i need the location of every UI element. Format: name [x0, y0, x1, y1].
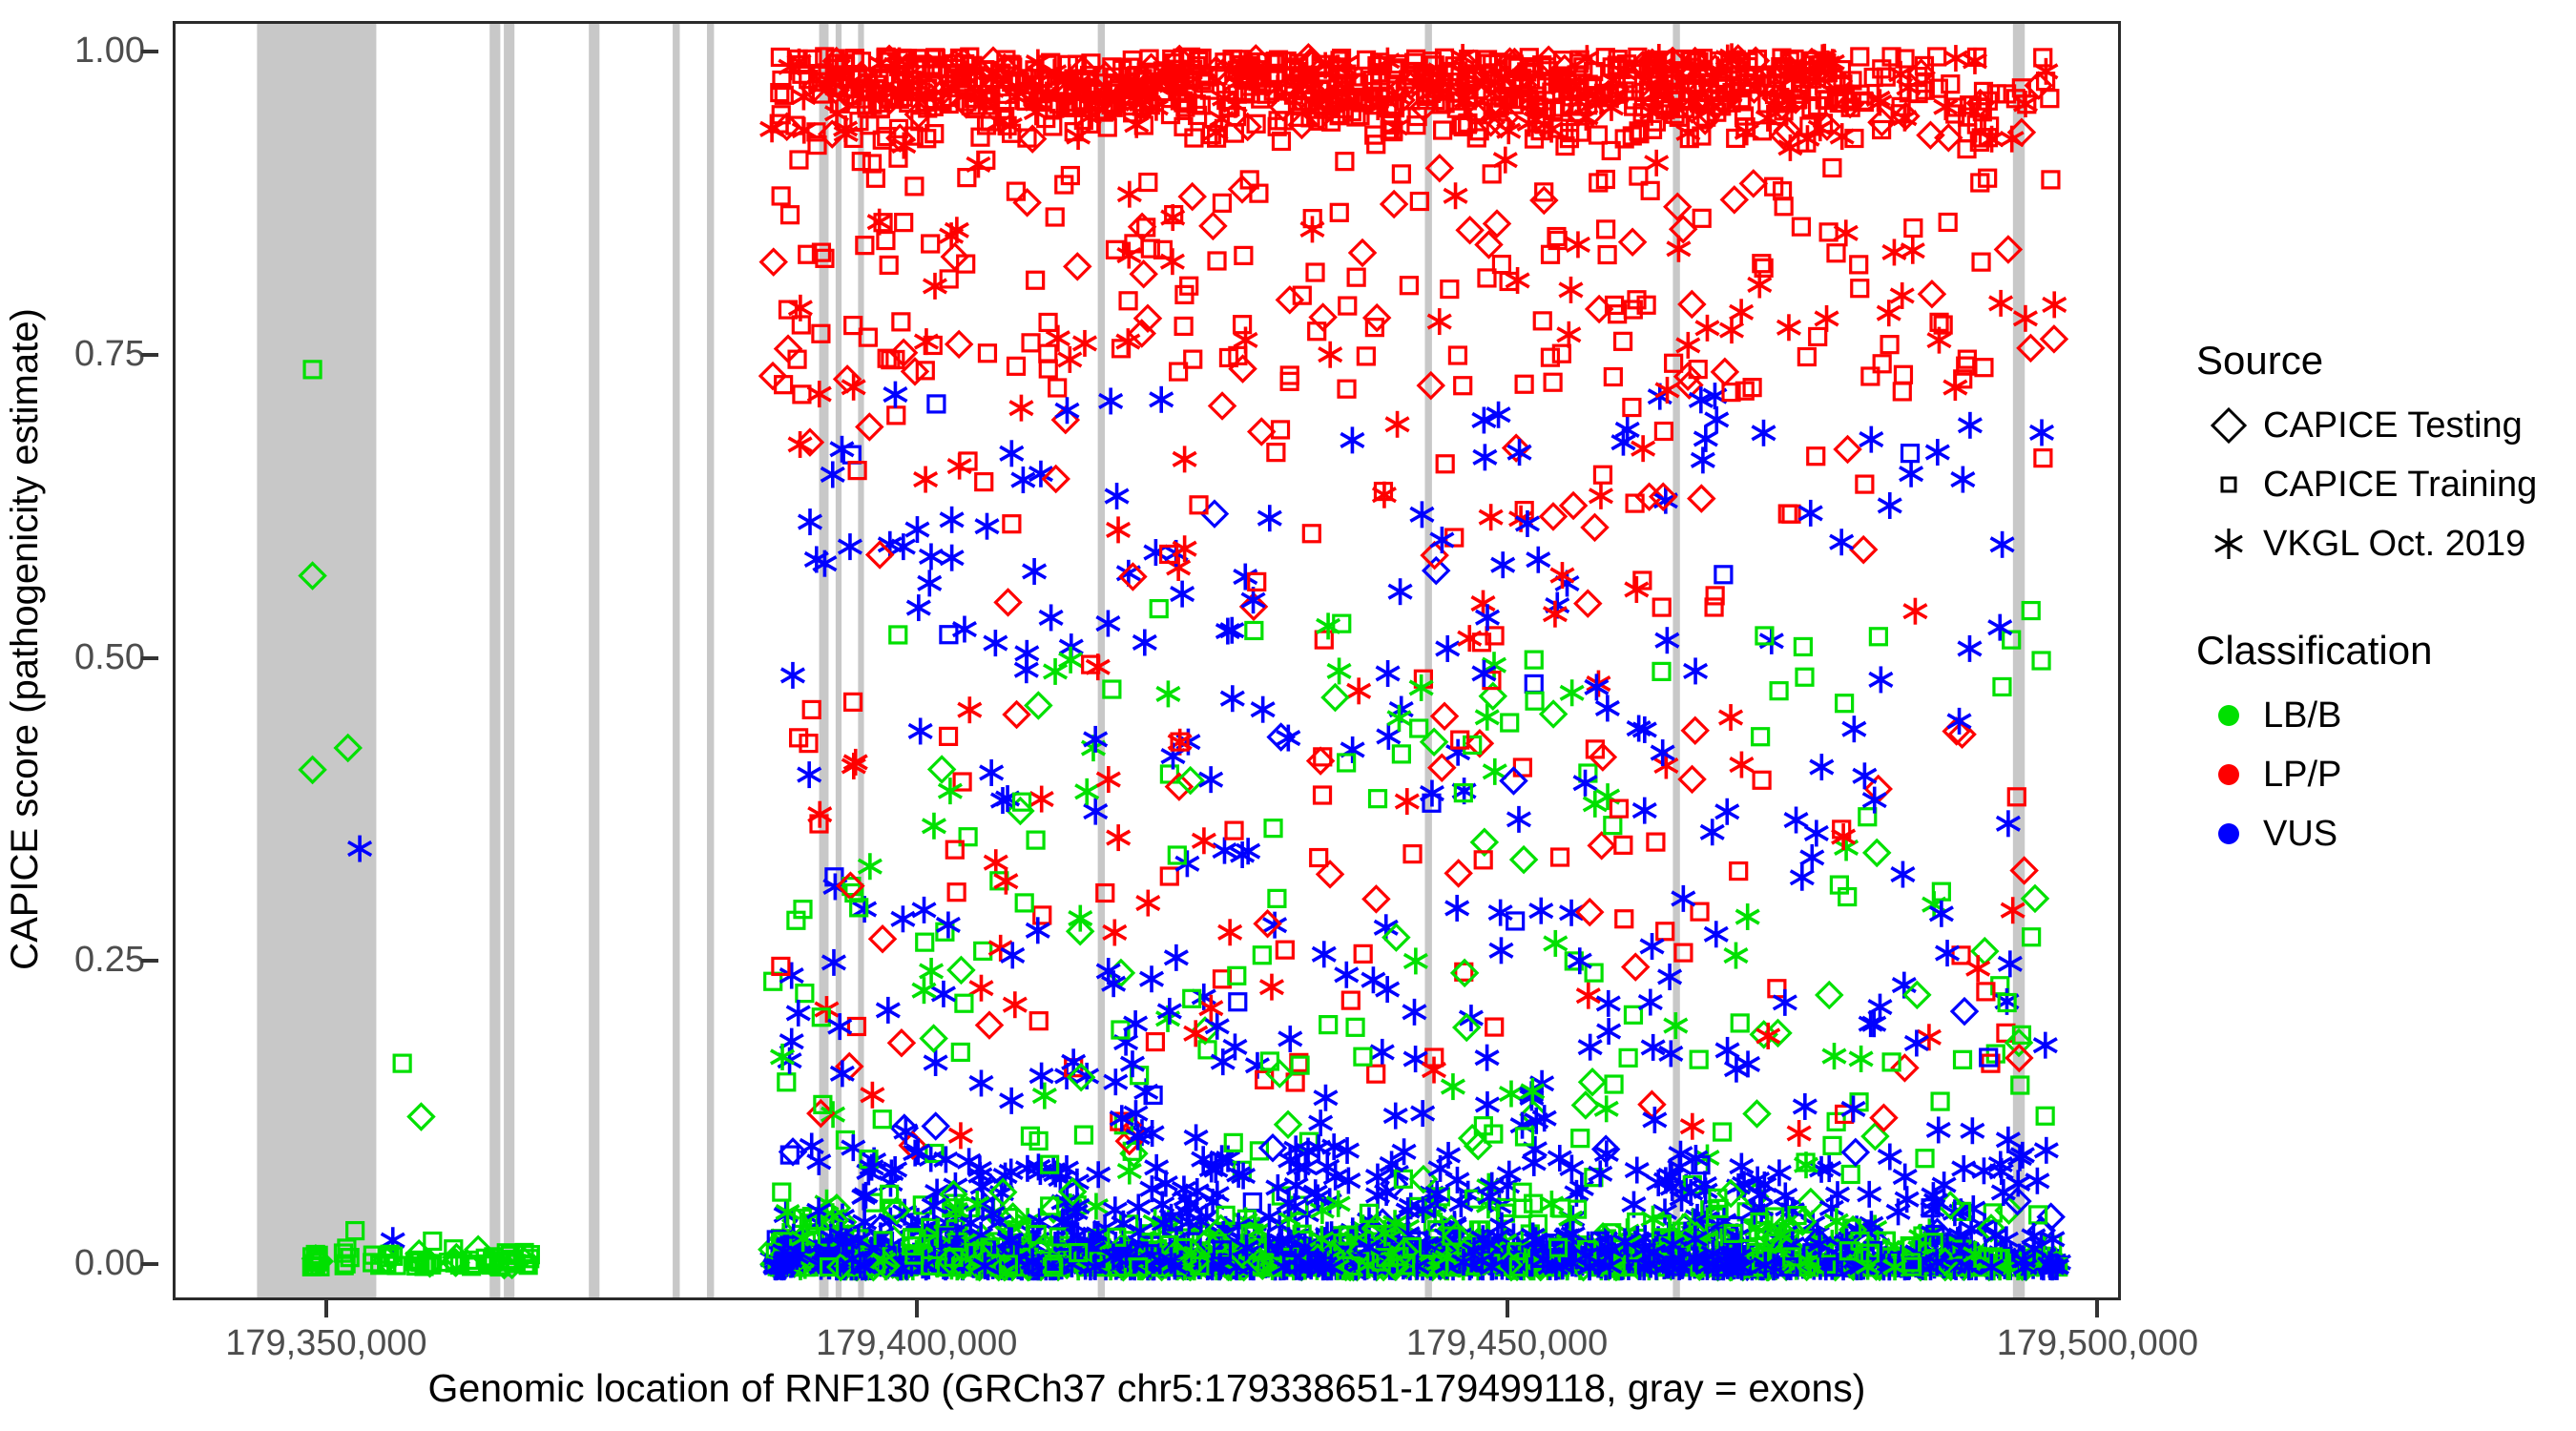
data-point [1311, 850, 1327, 866]
data-point [1605, 368, 1621, 384]
data-point [1246, 622, 1262, 638]
data-point [1895, 366, 1911, 383]
data-point [831, 1060, 854, 1087]
figure-root: CAPICE score (pathogenicity estimate) 0.… [0, 0, 2576, 1431]
data-point [1994, 678, 2010, 695]
data-point [1589, 483, 1612, 509]
data-point [1028, 832, 1044, 848]
data-point [1206, 1013, 1229, 1040]
data-point [1023, 558, 1046, 585]
asterisk-icon [2194, 522, 2263, 566]
data-point [1920, 281, 1944, 306]
data-point [1589, 127, 1606, 143]
data-point [2023, 603, 2039, 619]
data-point [922, 1026, 946, 1050]
data-point [1808, 448, 1824, 465]
data-point [425, 1234, 441, 1250]
data-point [800, 736, 817, 752]
data-point [1347, 677, 1370, 704]
data-point [1103, 919, 1126, 945]
data-point [1952, 999, 1977, 1024]
data-point [948, 958, 973, 983]
data-point [1226, 822, 1242, 839]
data-point [1000, 1088, 1023, 1114]
data-point [1023, 335, 1039, 351]
data-point [1633, 798, 1656, 824]
x-axis-title: Genomic location of RNF130 (GRCh37 chr5:… [173, 1366, 2121, 1411]
data-point [1776, 198, 1792, 215]
data-point [1236, 838, 1259, 864]
data-point [1824, 1137, 1840, 1153]
data-point [923, 236, 939, 252]
data-point [1444, 182, 1466, 209]
x-tick-label: 179,400,000 [816, 1323, 1017, 1364]
data-point [1527, 693, 1543, 709]
data-point [1794, 1093, 1817, 1120]
data-point [1507, 913, 1524, 929]
data-point [1952, 1155, 1975, 1182]
data-point [1752, 420, 1775, 446]
data-point [1311, 305, 1336, 330]
data-point [972, 129, 988, 145]
data-point [1620, 1049, 1636, 1066]
data-point [1894, 1164, 1917, 1191]
data-point [1879, 1144, 1901, 1171]
data-point [1376, 660, 1399, 687]
y-tick-mark [141, 1262, 158, 1266]
data-point [1350, 240, 1375, 265]
data-point [779, 1074, 795, 1090]
data-point [1307, 264, 1323, 280]
data-point [1120, 293, 1136, 309]
data-point [1976, 360, 1992, 376]
data-point [1799, 500, 1822, 527]
data-point [1713, 360, 1737, 384]
data-point [1616, 911, 1632, 927]
data-point [797, 985, 813, 1002]
x-tick-label: 179,350,000 [225, 1323, 426, 1364]
legend-label-vus: VUS [2263, 814, 2337, 855]
data-point [1577, 900, 1602, 924]
data-point [1599, 247, 1615, 263]
data-point [1526, 652, 1542, 668]
data-point [1058, 346, 1081, 373]
data-point [2035, 50, 2051, 66]
data-point [1150, 386, 1173, 413]
data-point [914, 467, 937, 493]
data-point [1705, 406, 1728, 433]
data-point [1320, 1017, 1337, 1033]
data-point [1545, 374, 1561, 390]
data-point [890, 627, 906, 643]
data-point [1795, 638, 1811, 654]
data-point [1526, 675, 1542, 692]
data-point [1891, 282, 1914, 309]
data-point [394, 1055, 410, 1071]
data-point [1693, 210, 1710, 226]
data-point [1842, 1166, 1859, 1182]
data-point [1623, 955, 1648, 980]
data-point [1363, 886, 1388, 911]
data-point [1714, 1124, 1731, 1140]
data-point [1655, 424, 1672, 440]
data-point [1055, 397, 1078, 424]
data-point [948, 884, 965, 901]
data-point [928, 396, 945, 412]
exon-band [589, 24, 599, 1297]
data-point [1218, 919, 1241, 945]
data-point [1871, 1106, 1896, 1130]
data-point [941, 271, 957, 287]
data-point [1140, 965, 1163, 992]
data-point [1927, 1116, 1950, 1143]
data-point [1544, 601, 1567, 628]
data-point [1926, 439, 1949, 466]
data-point [924, 1049, 946, 1076]
data-point [1476, 1091, 1499, 1118]
data-point [1606, 1076, 1622, 1092]
data-point [1104, 681, 1120, 697]
data-point [1664, 1012, 1687, 1039]
legend-item-vkgl[interactable]: VKGL Oct. 2019 [2194, 514, 2566, 573]
data-point [1249, 419, 1274, 444]
square-icon [2194, 463, 2263, 507]
data-point [1810, 754, 1833, 780]
data-point [1339, 381, 1355, 397]
data-point [1859, 426, 1882, 453]
data-point [1429, 756, 1454, 780]
data-point [1691, 1051, 1707, 1068]
data-point [1577, 983, 1600, 1009]
data-point [934, 1146, 957, 1172]
data-point [891, 905, 914, 932]
data-point [1335, 962, 1358, 988]
data-point [1736, 903, 1759, 930]
data-point [1705, 921, 1728, 947]
data-point [1393, 166, 1409, 182]
data-point [1507, 806, 1530, 833]
data-point [1961, 1117, 1984, 1144]
data-point [1972, 939, 1997, 964]
data-point [1480, 504, 1503, 530]
data-point [941, 545, 964, 571]
data-point [1075, 1127, 1091, 1143]
data-point [1435, 122, 1451, 138]
data-point [1358, 348, 1374, 364]
y-tick-label: 1.00 [11, 32, 145, 69]
diamond-icon [2194, 404, 2263, 447]
data-point [1489, 937, 1512, 964]
data-point [1624, 400, 1640, 416]
data-point [1404, 846, 1421, 862]
y-tick-mark [141, 959, 158, 963]
data-point [1138, 219, 1154, 236]
data-point [1715, 567, 1732, 583]
data-point [1511, 847, 1536, 872]
data-point [1990, 531, 2013, 558]
data-point [774, 1184, 790, 1200]
data-point [1234, 564, 1257, 591]
data-point [1989, 290, 2012, 317]
data-point [1645, 150, 1668, 176]
data-point [1030, 1013, 1047, 1029]
data-point [1730, 752, 1753, 778]
data-point [2023, 886, 2047, 911]
data-point [1793, 218, 1809, 235]
data-point [1824, 159, 1840, 176]
data-point [1852, 49, 1868, 65]
data-point [1355, 945, 1371, 962]
data-point [781, 662, 804, 689]
data-point [782, 207, 799, 223]
data-point [1620, 230, 1645, 255]
data-point [896, 215, 912, 231]
data-point [1049, 380, 1066, 396]
data-point [1680, 767, 1705, 792]
data-point [1777, 314, 1800, 341]
x-tick-mark [2095, 1300, 2099, 1317]
data-point [1254, 947, 1270, 964]
data-point [1557, 321, 1580, 348]
data-point [969, 1069, 992, 1096]
data-point [1140, 175, 1156, 191]
data-point [920, 543, 943, 570]
data-point [1552, 849, 1568, 865]
data-point [1837, 695, 1853, 712]
data-point [1340, 298, 1356, 314]
y-tick-mark [141, 353, 158, 357]
data-point [1942, 76, 1959, 93]
data-point [1958, 635, 1981, 662]
data-point [1033, 1083, 1056, 1110]
data-point [1027, 917, 1049, 944]
data-point [1894, 384, 1910, 400]
exon-band [836, 24, 841, 1297]
data-point [1575, 591, 1600, 616]
scatter-canvas [176, 24, 2118, 1297]
data-point [1567, 231, 1589, 258]
data-point [952, 1044, 968, 1060]
exon-band [257, 24, 376, 1297]
data-point [1209, 253, 1225, 269]
data-point [1900, 461, 1922, 487]
data-point [1744, 1101, 1769, 1126]
data-point [1515, 1200, 1531, 1216]
data-point [1028, 272, 1044, 288]
data-point [1236, 247, 1252, 263]
data-point [1572, 1130, 1589, 1147]
data-point [1695, 315, 1718, 342]
data-point [2042, 326, 2067, 351]
x-axis-ticks: 179,350,000179,400,000179,450,000179,500… [173, 1300, 2121, 1367]
data-point [1385, 411, 1408, 438]
data-point [2024, 929, 2040, 945]
legend-label-capice-training: CAPICE Training [2263, 465, 2537, 506]
data-point [1905, 220, 1922, 237]
data-point [1402, 999, 1425, 1026]
data-point [1526, 1195, 1542, 1212]
data-point [996, 590, 1021, 614]
data-point [1684, 657, 1707, 684]
data-point [1277, 942, 1293, 958]
data-point [966, 151, 989, 177]
data-point [1805, 819, 1828, 846]
data-point [1370, 791, 1386, 807]
data-point [1348, 269, 1364, 285]
data-point [1486, 1019, 1503, 1035]
data-point [1851, 257, 1867, 273]
legend-label-vkgl: VKGL Oct. 2019 [2263, 524, 2525, 565]
data-point [881, 257, 897, 273]
data-point [1411, 720, 1427, 736]
data-point [1437, 456, 1453, 472]
legend-group-source: Source CAPICE Testing CAPICE Training [2194, 339, 2566, 573]
data-point [799, 508, 821, 535]
data-point [1573, 1092, 1598, 1117]
data-point [1331, 204, 1347, 220]
data-point [1878, 300, 1901, 326]
data-point [2035, 1137, 2058, 1164]
legend-item-capice-training[interactable]: CAPICE Training [2194, 455, 2566, 514]
data-point [773, 188, 789, 204]
data-point [408, 1105, 433, 1130]
data-point [1047, 209, 1063, 225]
data-point [1719, 704, 1742, 731]
data-point [1029, 1063, 1052, 1089]
data-point [2034, 1032, 2057, 1059]
legend-item-capice-testing[interactable]: CAPICE Testing [2194, 396, 2566, 455]
data-point [1870, 629, 1886, 645]
data-point [1594, 467, 1610, 483]
data-point [2030, 419, 2053, 446]
data-point [1484, 166, 1500, 182]
data-point [1381, 192, 1406, 217]
data-point [1446, 861, 1471, 885]
data-point [1798, 349, 1815, 365]
data-point [1657, 923, 1673, 940]
data-point [1529, 898, 1552, 924]
data-point [883, 382, 906, 408]
data-point [1851, 537, 1876, 562]
exon-band [673, 24, 679, 1297]
data-point [1221, 685, 1244, 712]
data-point [1689, 487, 1714, 511]
legend-item-vus[interactable]: VUS [2194, 804, 2566, 863]
circle-blue-icon [2194, 812, 2263, 856]
x-tick-mark [915, 1300, 919, 1317]
data-point [1732, 1015, 1748, 1031]
legend-label-lpp: LP/P [2263, 755, 2341, 796]
data-point [1771, 683, 1787, 699]
data-point [1065, 254, 1090, 279]
data-point [1368, 1066, 1384, 1082]
data-point [1315, 787, 1331, 803]
data-point [917, 934, 933, 950]
exon-band [858, 24, 863, 1297]
data-point [1273, 422, 1289, 438]
data-point [975, 513, 998, 540]
data-point [1180, 184, 1205, 209]
data-point [1347, 1019, 1363, 1035]
data-point [1258, 505, 1281, 531]
data-points [301, 43, 2070, 1280]
data-point [1869, 666, 1892, 693]
data-point [1842, 715, 1865, 742]
data-point [1473, 444, 1496, 470]
data-point [1281, 373, 1298, 389]
y-tick-label: 0.50 [11, 639, 145, 675]
data-point [1384, 1103, 1407, 1130]
data-point [1500, 1081, 1523, 1108]
data-point [1862, 1124, 1887, 1149]
data-point [905, 516, 928, 543]
data-point [1879, 492, 1901, 519]
data-point [761, 250, 786, 275]
data-point [1724, 943, 1747, 969]
data-point [870, 926, 895, 951]
data-point [1337, 154, 1353, 170]
data-point [2033, 653, 2049, 669]
data-point [1797, 669, 1813, 685]
data-point [1015, 656, 1038, 683]
data-point [1200, 214, 1225, 238]
data-point [1009, 395, 1032, 422]
data-point [889, 1030, 914, 1055]
data-point [1822, 1043, 1845, 1069]
data-point [1955, 1051, 1971, 1068]
data-point [1231, 357, 1256, 382]
data-point [946, 332, 971, 357]
data-point [976, 474, 992, 490]
data-point [1694, 425, 1717, 452]
data-point [1774, 989, 1797, 1016]
data-point [1862, 1010, 1885, 1037]
data-point [956, 995, 972, 1011]
data-point [1105, 483, 1128, 509]
legend-item-lbb[interactable]: LB/B [2194, 686, 2566, 745]
y-tick-mark [141, 50, 158, 53]
data-point [1605, 818, 1621, 834]
data-point [1432, 704, 1457, 729]
data-point [977, 1013, 1002, 1038]
data-point [1843, 1140, 1868, 1165]
data-point [1683, 718, 1708, 743]
data-point [1040, 314, 1056, 330]
data-point [1849, 1046, 1872, 1072]
data-point [1527, 547, 1549, 573]
data-point [1561, 679, 1584, 706]
data-point [1507, 439, 1530, 466]
data-point [1393, 746, 1409, 762]
data-point [1278, 1026, 1301, 1052]
data-point [1852, 280, 1868, 297]
data-point [1826, 1181, 1849, 1208]
data-point [1475, 1045, 1498, 1071]
data-point [1132, 261, 1156, 286]
data-point [1117, 560, 1140, 587]
data-point [1186, 130, 1202, 146]
legend-item-lpp[interactable]: LP/P [2194, 745, 2566, 804]
data-point [923, 813, 945, 840]
data-point [984, 630, 1007, 656]
data-point [912, 897, 935, 923]
data-point [877, 997, 900, 1024]
y-tick-mark [141, 656, 158, 660]
data-point [1388, 578, 1411, 605]
data-point [1903, 598, 1926, 625]
data-point [1173, 446, 1195, 472]
data-point [1784, 807, 1807, 834]
